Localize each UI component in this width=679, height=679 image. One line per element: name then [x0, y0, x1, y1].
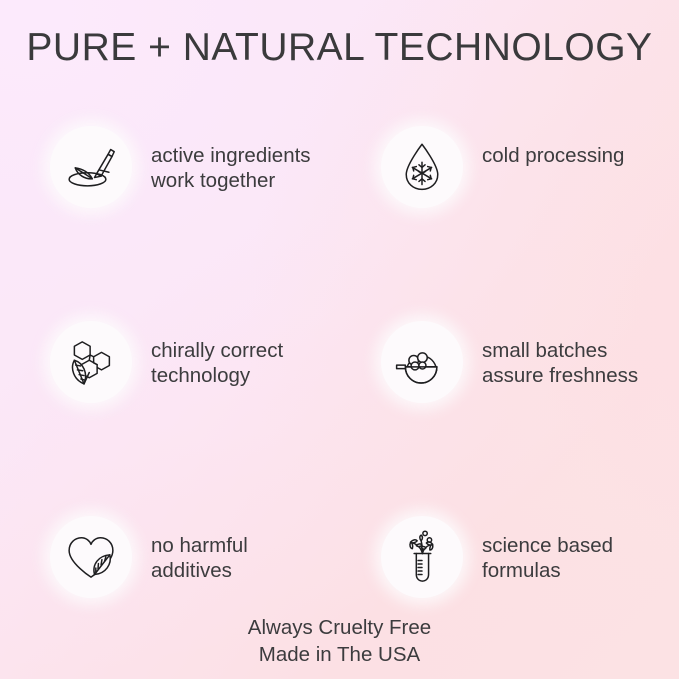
feature-label: no harmful additives — [151, 533, 248, 583]
feature-item-cold-processing: cold processing — [337, 126, 679, 321]
feature-item-chirally-correct: chirally correct technology — [0, 321, 337, 516]
page-title: PURE + NATURAL TECHNOLOGY — [0, 24, 679, 72]
feature-item-active-ingredients: active ingredients work together — [0, 126, 337, 321]
hexagon-molecule-leaf-icon — [63, 334, 119, 390]
feature-row: chirally correct technology — [0, 321, 679, 516]
dropper-leaf-dish-icon — [63, 139, 119, 195]
pure-natural-technology-infographic: PURE + NATURAL TECHNOLOGY — [0, 0, 679, 679]
feature-icon-badge — [381, 516, 463, 598]
feature-label: small batches assure freshness — [482, 338, 638, 388]
feature-label: cold processing — [482, 143, 624, 168]
water-drop-snowflake-icon — [394, 139, 450, 195]
feature-row: active ingredients work together — [0, 126, 679, 321]
feature-icon-badge — [50, 321, 132, 403]
test-tube-plant-icon — [394, 529, 450, 585]
feature-icon-badge — [50, 126, 132, 208]
footer-text: Always Cruelty Free Made in The USA — [0, 614, 679, 668]
feature-label: active ingredients work together — [151, 143, 311, 193]
feature-grid: active ingredients work together — [0, 126, 679, 679]
feature-icon-badge — [381, 321, 463, 403]
feature-icon-badge — [50, 516, 132, 598]
feature-icon-badge — [381, 126, 463, 208]
spoon-granules-icon — [394, 334, 450, 390]
feature-label: science based formulas — [482, 533, 613, 583]
feature-item-small-batches: small batches assure freshness — [337, 321, 679, 516]
heart-leaf-icon — [63, 529, 119, 585]
feature-label: chirally correct technology — [151, 338, 283, 388]
